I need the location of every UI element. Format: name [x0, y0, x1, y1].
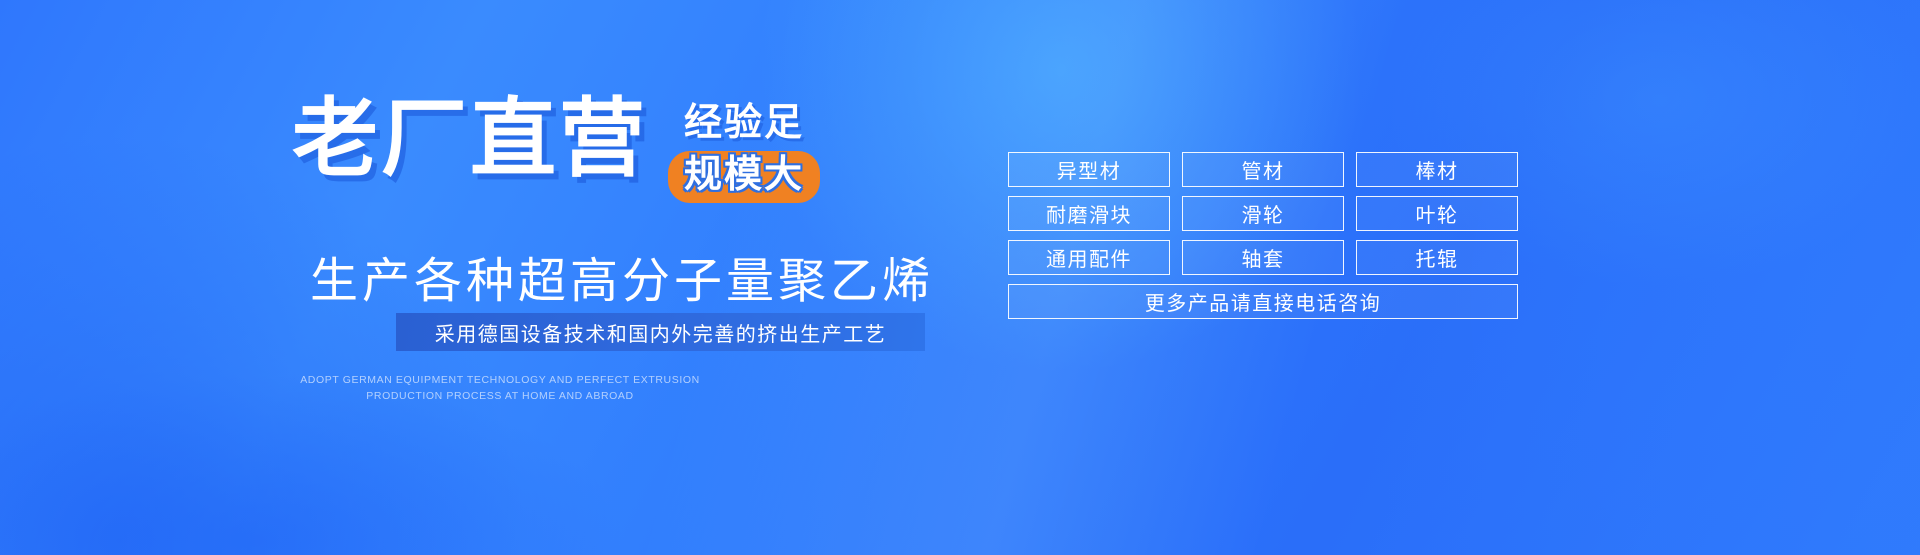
product-button-tongyongpeijian[interactable]: 通用配件 [1008, 240, 1170, 275]
headline-block: 老厂直营 经验足 规模大 生产各种超高分子量聚乙烯 采用德国设备技术和国内外完善… [0, 0, 1000, 555]
product-button-yelun[interactable]: 叶轮 [1356, 196, 1518, 231]
english-tagline: ADOPT GERMAN EQUIPMENT TECHNOLOGY AND PE… [0, 372, 1000, 405]
product-button-zhoutao[interactable]: 轴套 [1182, 240, 1344, 275]
badge-stack: 经验足 规模大 [668, 102, 820, 203]
contact-cta-button[interactable]: 更多产品请直接电话咨询 [1008, 284, 1518, 319]
product-button-bangcai[interactable]: 棒材 [1356, 152, 1518, 187]
product-category-grid: 异型材 管材 棒材 耐磨滑块 滑轮 叶轮 通用配件 轴套 托辊 [1008, 152, 1518, 275]
product-category-panel: 异型材 管材 棒材 耐磨滑块 滑轮 叶轮 通用配件 轴套 托辊 更多产品请直接电… [1008, 152, 1518, 319]
tagline-bar: 采用德国设备技术和国内外完善的挤出生产工艺 [396, 313, 925, 351]
promotional-banner: 老厂直营 经验足 规模大 生产各种超高分子量聚乙烯 采用德国设备技术和国内外完善… [0, 0, 1920, 555]
subtitle: 生产各种超高分子量聚乙烯 [310, 241, 934, 311]
scale-badge: 规模大 [668, 151, 820, 204]
title-row: 老厂直营 经验足 规模大 [292, 96, 820, 203]
product-button-yixingcai[interactable]: 异型材 [1008, 152, 1170, 187]
page-title: 老厂直营 [292, 96, 648, 184]
product-button-naimohuakuai[interactable]: 耐磨滑块 [1008, 196, 1170, 231]
tagline-text: 采用德国设备技术和国内外完善的挤出生产工艺 [435, 318, 887, 347]
experience-badge: 经验足 [684, 102, 804, 146]
english-tagline-line1: ADOPT GERMAN EQUIPMENT TECHNOLOGY AND PE… [0, 372, 1000, 388]
product-button-hualun[interactable]: 滑轮 [1182, 196, 1344, 231]
product-button-tuogun[interactable]: 托辊 [1356, 240, 1518, 275]
english-tagline-line2: PRODUCTION PROCESS AT HOME AND ABROAD [0, 388, 1000, 404]
product-button-guancai[interactable]: 管材 [1182, 152, 1344, 187]
